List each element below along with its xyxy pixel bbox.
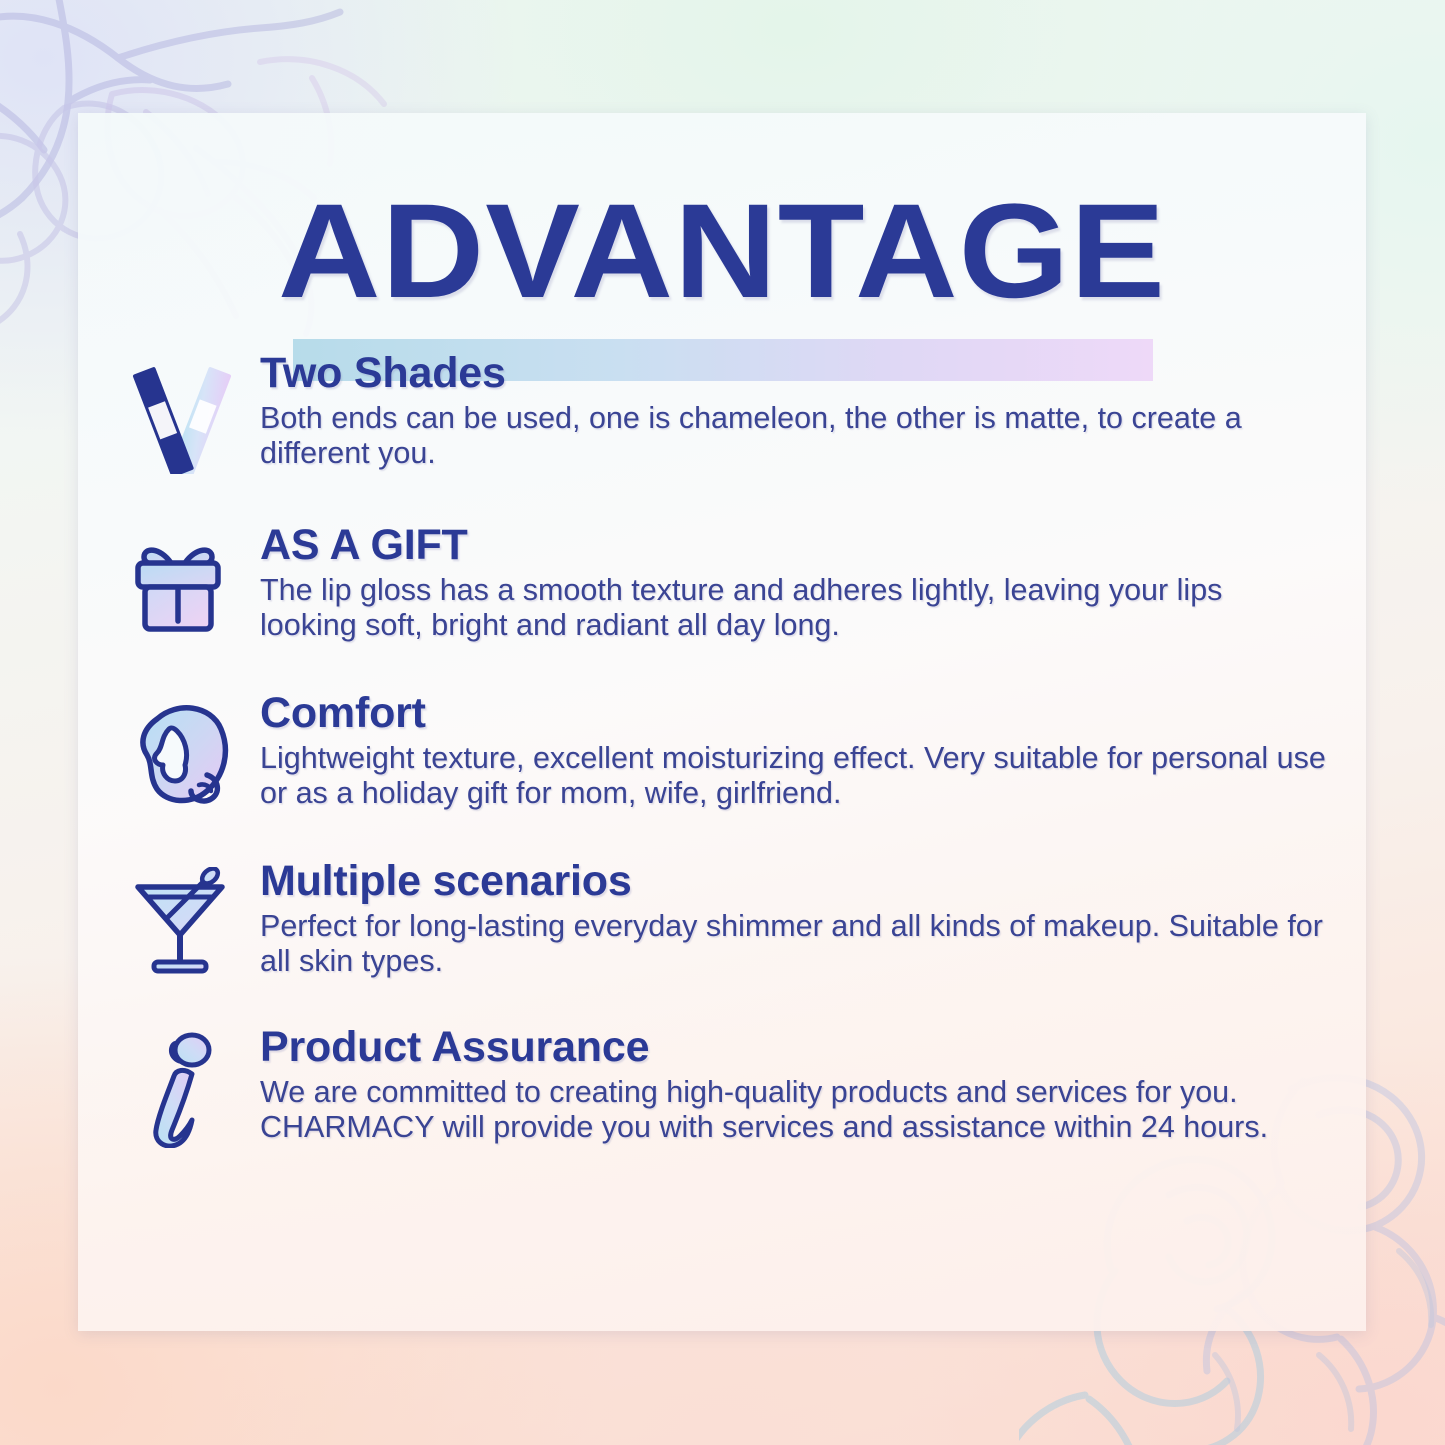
gift-box-icon <box>126 527 238 647</box>
woman-face-hair-icon <box>126 695 238 815</box>
crossed-lipstick-sticks-icon <box>126 355 238 475</box>
feature-item: Two Shades Both ends can be used, one is… <box>78 349 1366 479</box>
feature-description: Both ends can be used, one is chameleon,… <box>260 401 1326 472</box>
feature-text: Comfort Lightweight texture, excellent m… <box>260 689 1326 812</box>
feature-item: Multiple scenarios Perfect for long-last… <box>78 857 1366 987</box>
feature-text: AS A GIFT The lip gloss has a smooth tex… <box>260 521 1326 644</box>
feature-item: Comfort Lightweight texture, excellent m… <box>78 689 1366 819</box>
advantage-card: ADVANTAGE <box>78 113 1366 1331</box>
feature-title: Multiple scenarios <box>260 859 1326 905</box>
poster-canvas: ADVANTAGE <box>0 0 1445 1445</box>
feature-description: Lightweight texture, excellent moisturiz… <box>260 741 1326 812</box>
cocktail-glass-icon <box>126 863 238 983</box>
feature-description: Perfect for long-lasting everyday shimme… <box>260 909 1326 980</box>
page-title-block: ADVANTAGE <box>78 185 1366 345</box>
feature-text: Two Shades Both ends can be used, one is… <box>260 349 1326 472</box>
feature-title: Two Shades <box>260 351 1326 397</box>
feature-item: AS A GIFT The lip gloss has a smooth tex… <box>78 521 1366 651</box>
feature-text: Product Assurance We are committed to cr… <box>260 1023 1326 1146</box>
feature-title: AS A GIFT <box>260 523 1326 569</box>
information-i-icon <box>126 1029 238 1149</box>
feature-list: Two Shades Both ends can be used, one is… <box>78 349 1366 1153</box>
page-title: ADVANTAGE <box>78 185 1366 319</box>
feature-title: Comfort <box>260 691 1326 737</box>
feature-title: Product Assurance <box>260 1025 1326 1071</box>
feature-description: We are committed to creating high-qualit… <box>260 1075 1326 1146</box>
feature-item: Product Assurance We are committed to cr… <box>78 1023 1366 1153</box>
feature-description: The lip gloss has a smooth texture and a… <box>260 573 1326 644</box>
feature-text: Multiple scenarios Perfect for long-last… <box>260 857 1326 980</box>
